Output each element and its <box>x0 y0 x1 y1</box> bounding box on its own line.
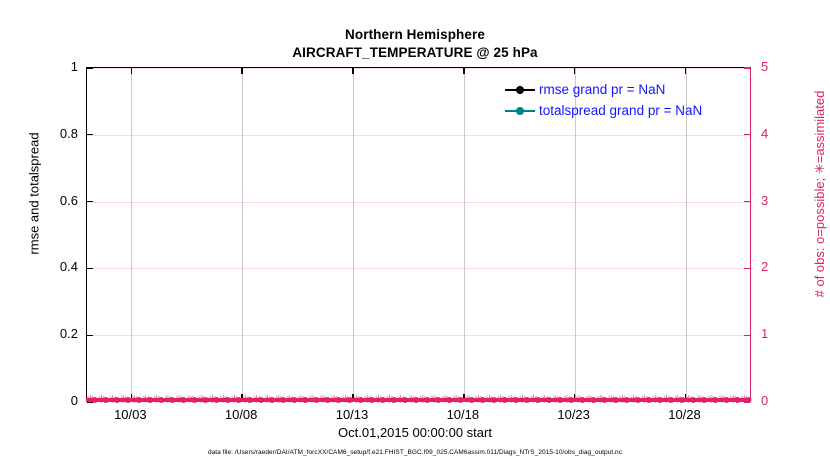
y-tick-right <box>744 201 750 202</box>
x-tick-label: 10/18 <box>423 408 503 421</box>
x-tick-top <box>574 68 575 74</box>
y-tick-label-right: 4 <box>761 127 801 140</box>
x-tick-bottom <box>574 394 575 400</box>
x-tick-label: 10/08 <box>201 408 281 421</box>
y-tick-left <box>87 201 93 202</box>
x-tick-bottom <box>241 394 242 400</box>
figure-canvas: Northern Hemisphere AIRCRAFT_TEMPERATURE… <box>0 0 830 470</box>
gridline-vertical <box>464 68 465 400</box>
x-tick-label: 10/23 <box>534 408 614 421</box>
legend-marker-rmse-icon <box>505 84 535 96</box>
x-tick-label: 10/28 <box>645 408 725 421</box>
y-tick-left <box>87 67 93 68</box>
y-tick-label-left: 0.4 <box>34 260 78 273</box>
y-tick-left <box>87 134 93 135</box>
chart-subtitle: AIRCRAFT_TEMPERATURE @ 25 hPa <box>0 44 830 62</box>
gridline-vertical <box>242 68 243 400</box>
x-tick-label: 10/13 <box>312 408 392 421</box>
gridline-horizontal <box>87 202 750 203</box>
gridline-horizontal <box>87 335 750 336</box>
y-tick-label-left: 0.8 <box>34 127 78 140</box>
x-tick-top <box>463 68 464 74</box>
x-tick-top <box>352 68 353 74</box>
x-axis-title: Oct.01,2015 00:00:00 start <box>0 425 830 440</box>
legend-label-rmse: rmse grand pr = NaN <box>539 82 665 97</box>
x-tick-label: 10/03 <box>90 408 170 421</box>
gridline-horizontal <box>87 135 750 136</box>
gridline-horizontal <box>87 68 750 69</box>
gridline-vertical <box>131 68 132 400</box>
y-tick-left <box>87 335 93 336</box>
x-tick-bottom <box>131 394 132 400</box>
y-tick-label-right: 1 <box>761 327 801 340</box>
x-tick-top <box>241 68 242 74</box>
y-tick-right <box>744 335 750 336</box>
gridline-vertical <box>353 68 354 400</box>
x-tick-bottom <box>685 394 686 400</box>
y-tick-label-right: 0 <box>761 394 801 407</box>
y-tick-left <box>87 401 93 402</box>
chart-title: Northern Hemisphere <box>0 26 830 44</box>
legend-marker-totalspread-icon <box>505 105 535 117</box>
chart-title-block: Northern Hemisphere AIRCRAFT_TEMPERATURE… <box>0 26 830 62</box>
x-tick-bottom <box>352 394 353 400</box>
y-tick-right <box>744 268 750 269</box>
y-tick-label-left: 0 <box>34 394 78 407</box>
y-tick-right <box>744 134 750 135</box>
y-tick-right <box>744 401 750 402</box>
y-tick-label-left: 0.6 <box>34 194 78 207</box>
y-tick-label-left: 0.2 <box>34 327 78 340</box>
x-tick-top <box>131 68 132 74</box>
y-tick-label-right: 2 <box>761 260 801 273</box>
y-axis-right-title: # of obs: o=possible; ✳=assimilated <box>812 64 828 324</box>
legend-item-totalspread[interactable]: totalspread grand pr = NaN <box>505 100 702 121</box>
x-tick-top <box>685 68 686 74</box>
x-tick-bottom <box>463 394 464 400</box>
y-tick-label-left: 1 <box>34 60 78 73</box>
gridline-horizontal <box>87 268 750 269</box>
y-tick-label-right: 5 <box>761 60 801 73</box>
data-file-caption: data file: /Users/raeder/DAI/ATM_forcXX/… <box>0 449 830 456</box>
legend-label-totalspread: totalspread grand pr = NaN <box>539 103 702 118</box>
y-tick-left <box>87 268 93 269</box>
chart-legend: rmse grand pr = NaN totalspread grand pr… <box>505 79 702 121</box>
y-tick-label-right: 3 <box>761 194 801 207</box>
legend-item-rmse[interactable]: rmse grand pr = NaN <box>505 79 702 100</box>
y-tick-right <box>744 67 750 68</box>
